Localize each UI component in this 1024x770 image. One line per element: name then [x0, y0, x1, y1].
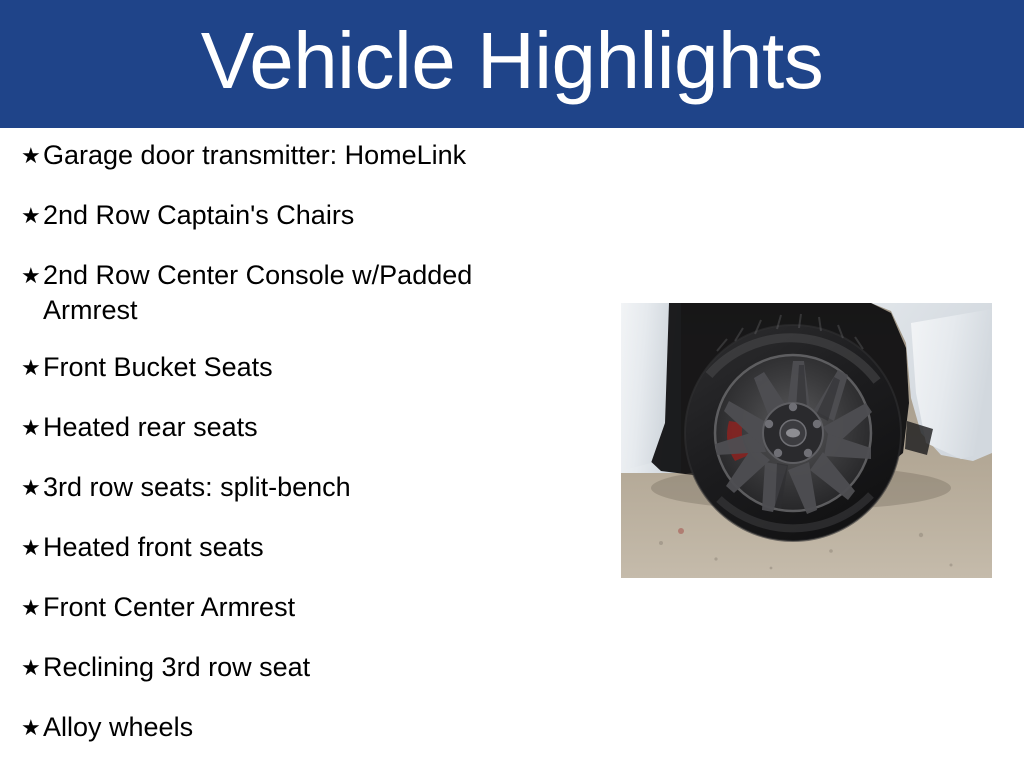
- list-item-label: Heated rear seats: [43, 410, 555, 445]
- header-banner: Vehicle Highlights: [0, 0, 1024, 128]
- star-bullet-icon: ★: [10, 350, 43, 388]
- list-item-label: Heated front seats: [43, 530, 555, 565]
- star-bullet-icon: ★: [10, 590, 43, 628]
- page-title: Vehicle Highlights: [201, 21, 823, 107]
- list-item: ★ Alloy wheels: [10, 710, 555, 748]
- vehicle-highlights-list: ★ Garage door transmitter: HomeLink ★ 2n…: [10, 138, 555, 770]
- star-bullet-icon: ★: [10, 138, 43, 176]
- star-bullet-icon: ★: [10, 710, 43, 748]
- list-item-label: Reclining 3rd row seat: [43, 650, 555, 685]
- star-bullet-icon: ★: [10, 410, 43, 448]
- list-item: ★ 2nd Row Captain's Chairs: [10, 198, 555, 236]
- star-bullet-icon: ★: [10, 198, 43, 236]
- content-area: ★ Garage door transmitter: HomeLink ★ 2n…: [0, 128, 1024, 768]
- list-item-label: Alloy wheels: [43, 710, 555, 745]
- list-item: ★ Front Bucket Seats: [10, 350, 555, 388]
- list-item-label: Front Bucket Seats: [43, 350, 555, 385]
- list-item: ★ Heated front seats: [10, 530, 555, 568]
- vehicle-wheel-photo: [621, 303, 992, 578]
- star-bullet-icon: ★: [10, 470, 43, 508]
- list-item-label: 3rd row seats: split-bench: [43, 470, 555, 505]
- star-bullet-icon: ★: [10, 258, 43, 296]
- star-bullet-icon: ★: [10, 530, 43, 568]
- star-bullet-icon: ★: [10, 650, 43, 688]
- list-item: ★ Garage door transmitter: HomeLink: [10, 138, 555, 176]
- list-item-label: Garage door transmitter: HomeLink: [43, 138, 555, 173]
- list-item-label: 2nd Row Center Console w/Padded Armrest: [43, 258, 555, 328]
- list-item: ★ 3rd row seats: split-bench: [10, 470, 555, 508]
- list-item-label: 2nd Row Captain's Chairs: [43, 198, 555, 233]
- list-item-label: Front Center Armrest: [43, 590, 555, 625]
- list-item: ★ Heated rear seats: [10, 410, 555, 448]
- list-item: ★ Front Center Armrest: [10, 590, 555, 628]
- list-item: ★ 2nd Row Center Console w/Padded Armres…: [10, 258, 555, 328]
- list-item: ★ Reclining 3rd row seat: [10, 650, 555, 688]
